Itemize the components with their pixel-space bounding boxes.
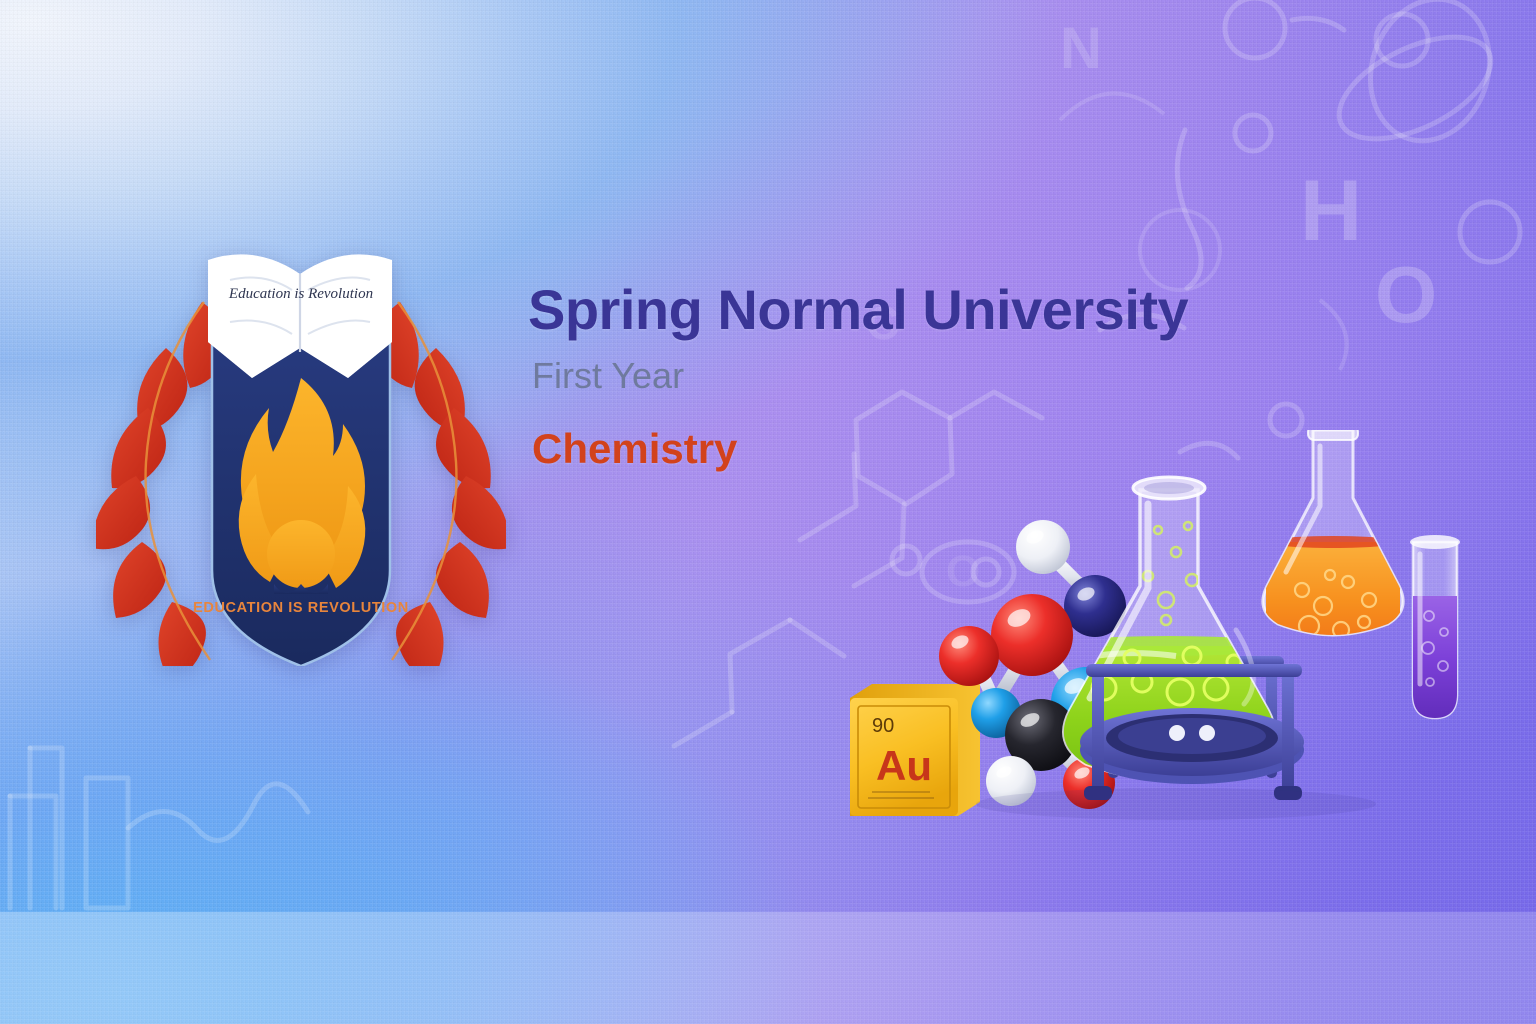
book-motto: Education is Revolution [228,286,373,302]
element-symbol: Au [876,742,932,789]
bottom-bar [0,912,1536,1024]
crest-ribbon-motto: EDUCATION IS REVOLUTION [193,600,409,616]
erlenmeyer-flask-small [1263,430,1403,662]
element-atomic-number: 90 [872,715,894,737]
element-card-au: 90 Au [850,684,980,816]
test-tube [1410,535,1461,724]
burner-base [1080,708,1304,784]
atom-oxygen [991,594,1073,676]
atom-oxygen-2 [939,626,999,686]
atom-hydrogen [1016,520,1070,574]
university-logo: Education is Revolution EDUCATION IS REV… [96,236,506,666]
page-title: Spring Normal University [528,280,1398,340]
banner-canvas: H O N C O H [0,0,1536,1024]
chemistry-illustration: 90 Au [836,430,1506,830]
year-label: First Year [532,356,1398,396]
